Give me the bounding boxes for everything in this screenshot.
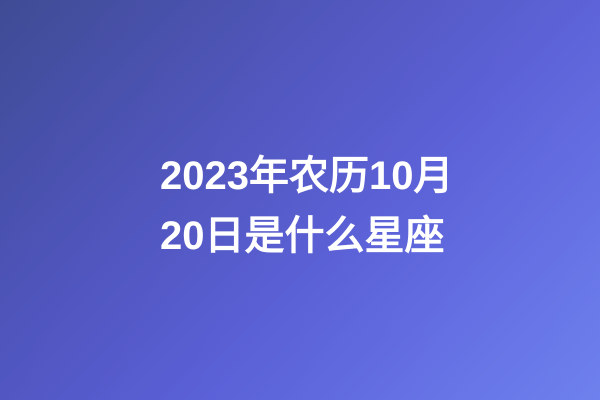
banner-canvas: 2023年农历10月20日是什么星座	[0, 0, 600, 400]
headline-container: 2023年农历10月20日是什么星座	[160, 146, 460, 266]
page-title: 2023年农历10月20日是什么星座	[160, 146, 460, 266]
